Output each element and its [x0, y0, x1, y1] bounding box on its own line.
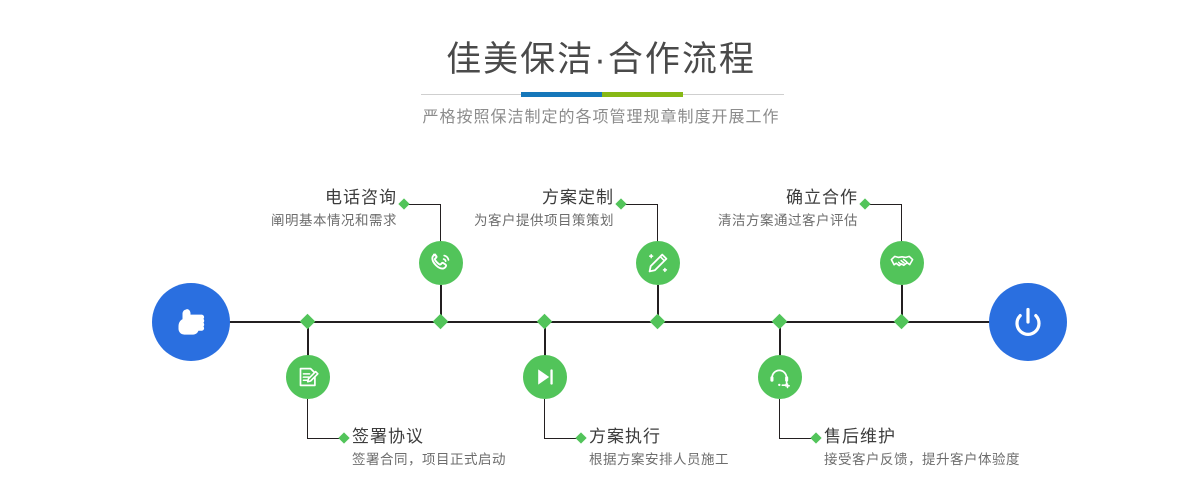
step-2-title: 签署协议 [352, 425, 602, 449]
step-5-label-diamond [859, 198, 870, 209]
step-5-title: 确立合作 [600, 186, 858, 210]
timeline-end-endcap [989, 283, 1067, 361]
step-6-desc: 接受客户反馈，提升客户体验度 [824, 449, 1084, 471]
step-4-title: 方案执行 [589, 425, 839, 449]
headset-support-icon [767, 364, 793, 390]
step-6-label: 售后维护 接受客户反馈，提升客户体验度 [824, 425, 1084, 471]
step-2-desc: 签署合同，项目正式启动 [352, 449, 602, 471]
step-3-title: 方案定制 [356, 186, 614, 210]
step-6-title: 售后维护 [824, 425, 1084, 449]
step-6-icon-circle [758, 355, 802, 399]
pencil-design-icon [645, 250, 671, 276]
step-1-icon-circle [419, 241, 463, 285]
step-1-axis-diamond [433, 314, 449, 330]
step-5-desc: 清洁方案通过客户评估 [600, 210, 858, 232]
phone-ringing-icon [428, 250, 454, 276]
step-4-icon-circle [523, 355, 567, 399]
cooperation-process-infographic: 佳美保洁·合作流程 严格按照保洁制定的各项管理规章制度开展工作 [0, 0, 1202, 502]
document-pen-icon [295, 364, 321, 390]
step-5-connector-vertical [901, 204, 902, 242]
step-6-axis-diamond [772, 314, 788, 330]
step-2-axis-diamond [300, 314, 316, 330]
step-4-axis-diamond [537, 314, 553, 330]
divider-green-segment [602, 92, 683, 97]
pointing-hand-icon [169, 300, 213, 344]
timeline-axis [155, 321, 1047, 323]
step-5-icon-circle [880, 241, 924, 285]
step-2-connector-vertical [307, 399, 308, 438]
step-5-axis-diamond [894, 314, 910, 330]
step-3-label: 方案定制 为客户提供项目策策划 [356, 186, 614, 232]
step-2-label: 签署协议 签署合同，项目正式启动 [352, 425, 602, 471]
step-3-axis-diamond [650, 314, 666, 330]
play-forward-icon [532, 364, 558, 390]
step-3-desc: 为客户提供项目策策划 [356, 210, 614, 232]
step-5-connector-horizontal [865, 204, 902, 205]
step-2-label-diamond [338, 432, 349, 443]
divider-blue-segment [521, 92, 602, 97]
step-3-icon-circle [636, 241, 680, 285]
handshake-icon [889, 250, 915, 276]
title-divider [421, 94, 784, 95]
step-4-label: 方案执行 根据方案安排人员施工 [589, 425, 839, 471]
step-5-label: 确立合作 清洁方案通过客户评估 [600, 186, 858, 232]
step-4-desc: 根据方案安排人员施工 [589, 449, 839, 471]
timeline-start-endcap [152, 283, 230, 361]
power-icon [1006, 300, 1050, 344]
page-subtitle: 严格按照保洁制定的各项管理规章制度开展工作 [0, 106, 1202, 130]
page-title: 佳美保洁·合作流程 [0, 38, 1202, 82]
step-2-icon-circle [286, 355, 330, 399]
